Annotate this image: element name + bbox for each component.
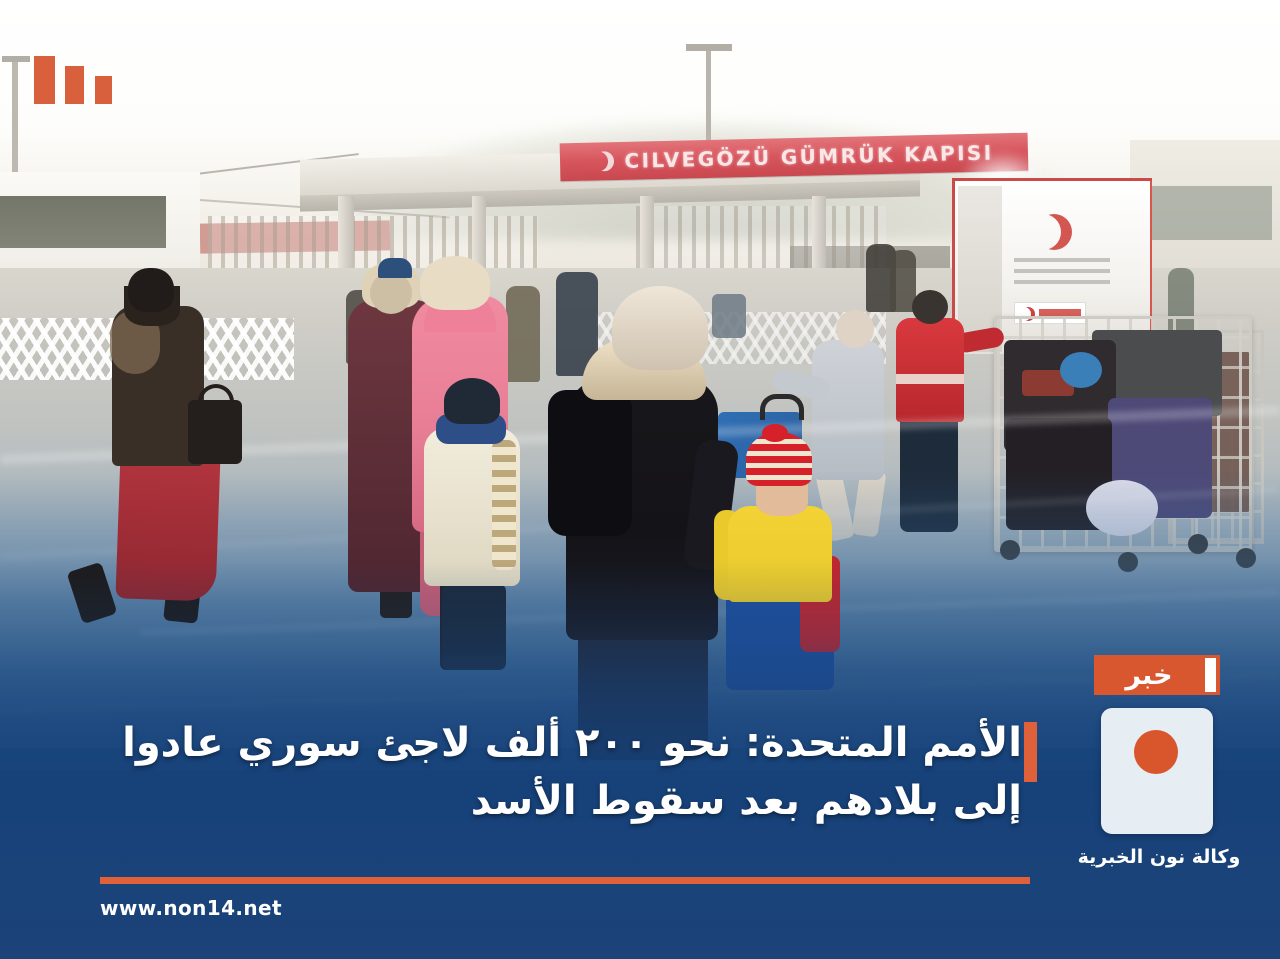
handbag <box>188 400 242 464</box>
traveller-body <box>812 340 884 480</box>
crescent-icon <box>594 151 614 171</box>
background-vehicle <box>712 294 746 338</box>
antenna-mast-arm <box>686 44 732 51</box>
child-hat <box>444 378 500 424</box>
bar-3 <box>95 76 112 104</box>
right-building-window <box>1146 186 1272 240</box>
service-truck-lettering <box>1014 258 1110 288</box>
divider-rule <box>100 877 1030 884</box>
luggage-bag <box>1060 352 1102 388</box>
three-bars-icon <box>34 56 124 104</box>
news-card: MOBIL HIZMET BIRIMI MOBILE SERVICE UNIT … <box>0 0 1280 959</box>
refugee-head <box>370 272 412 314</box>
refugee-headscarf <box>420 256 490 310</box>
traveller-head <box>836 310 874 348</box>
border-gate-sign-text: CILVEGÖZÜ GÜMRÜK KAPISI <box>624 140 994 172</box>
worker-vest-stripe <box>896 374 964 384</box>
mother-backpack <box>548 390 632 536</box>
news-badge-tick <box>1205 658 1216 692</box>
background-person <box>506 286 540 382</box>
logo-orange-dot-icon <box>1134 730 1178 774</box>
agency-name: وكالة نون الخبرية <box>1030 846 1280 868</box>
headline: الأمم المتحدة: نحو ٢٠٠ ألف لاجئ سوري عاد… <box>56 714 1022 831</box>
child-jacket-trim <box>492 440 516 570</box>
worker-head <box>912 290 948 324</box>
refugee-cap <box>378 258 412 278</box>
refugee-head <box>128 268 174 312</box>
news-badge: خبر <box>1094 655 1220 695</box>
website-url: www.non14.net <box>100 896 282 920</box>
left-building-band <box>0 196 166 248</box>
headline-accent-bar <box>1024 722 1037 782</box>
light-pole-arm <box>2 56 30 62</box>
worker-red-vest <box>896 318 964 422</box>
mother-headscarf <box>612 286 708 370</box>
suitcase-handle <box>760 394 804 420</box>
red-crescent-logo-icon <box>1036 214 1072 250</box>
news-badge-label: خبر <box>1125 662 1172 689</box>
bar-2 <box>65 66 84 104</box>
toddler-face <box>756 482 808 516</box>
toddler-beanie-pom <box>762 424 788 442</box>
bar-1 <box>34 56 55 104</box>
